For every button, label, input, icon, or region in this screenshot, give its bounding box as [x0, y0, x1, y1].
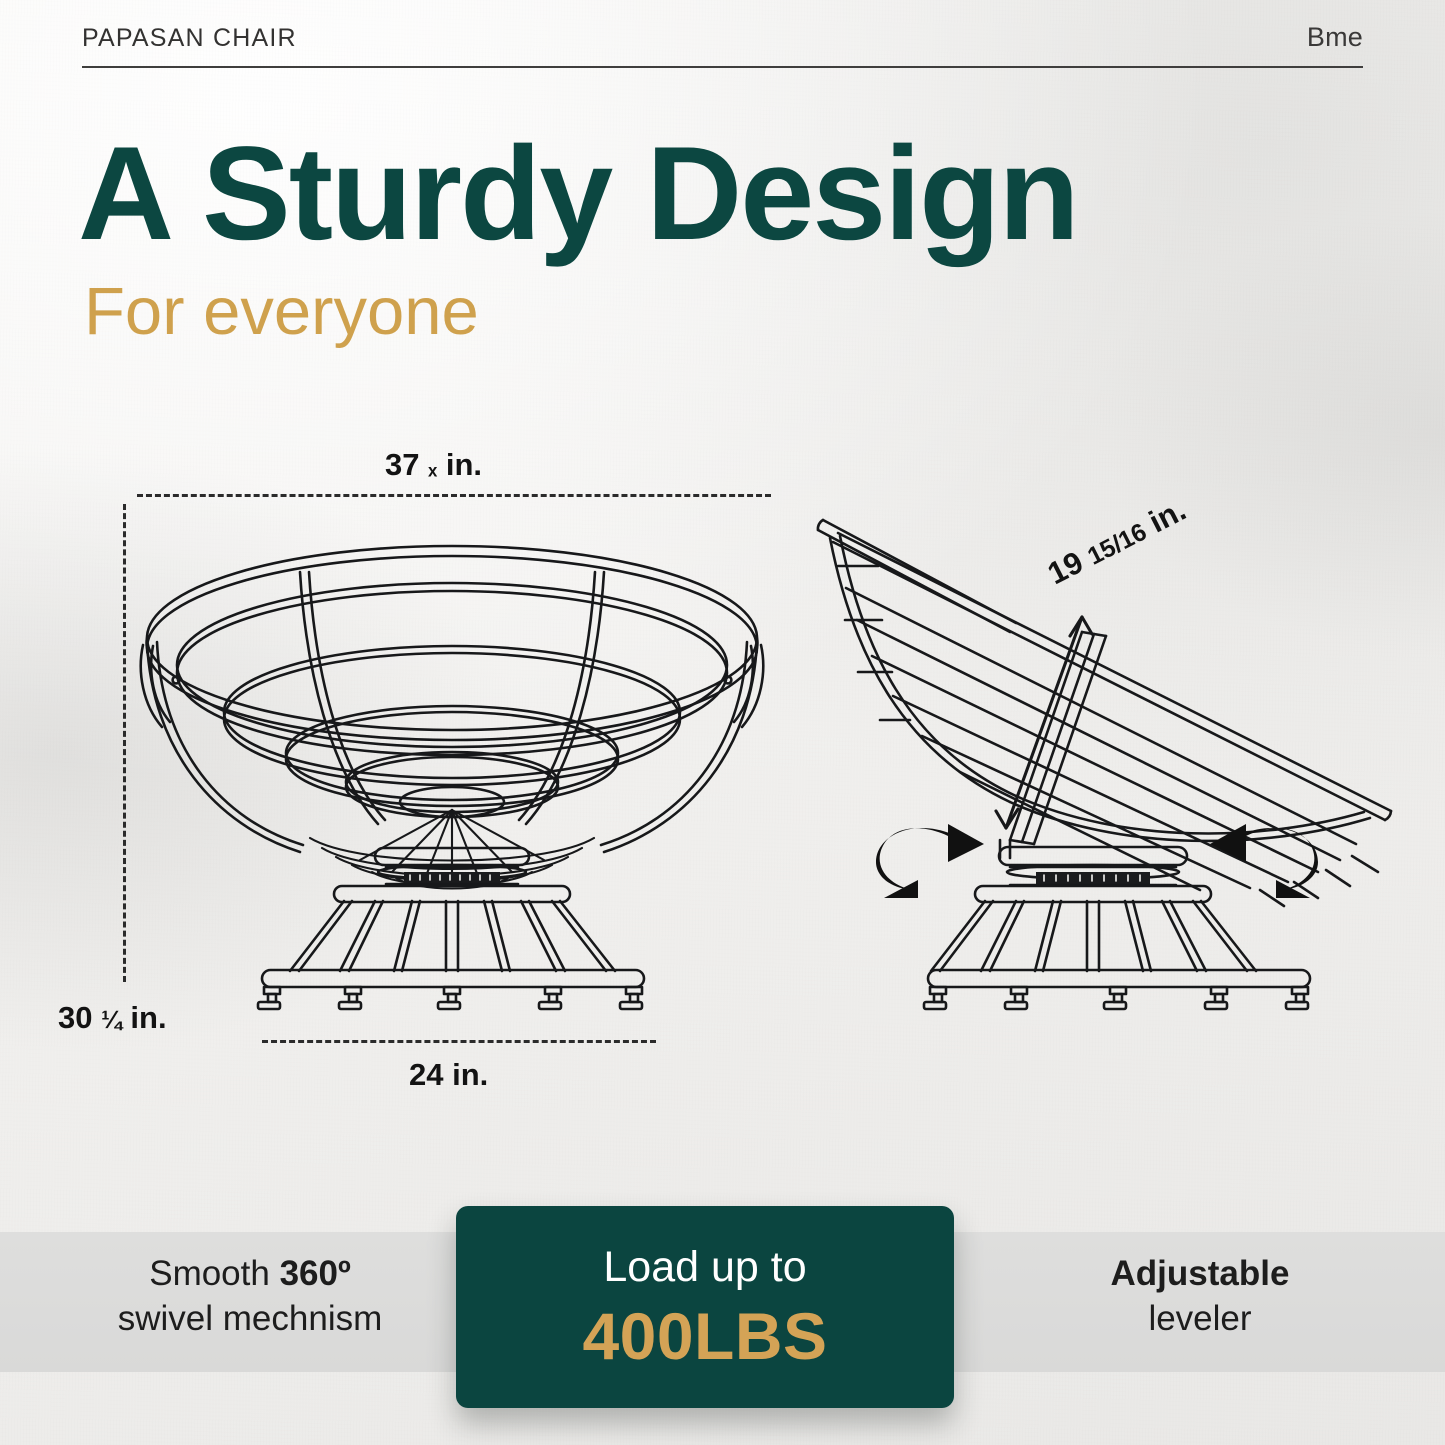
front-view-bowl [141, 546, 763, 1009]
leveler-foot [1205, 987, 1227, 1009]
feature-swivel-line1: Smooth 360º [40, 1252, 460, 1297]
page-subtitle: For everyone [84, 278, 479, 345]
feature-leveler-line1: Adjustable [995, 1252, 1405, 1297]
brand-logo: Bme [1307, 22, 1363, 53]
leveler-foot [1104, 987, 1126, 1009]
feature-leveler-value: Adjustable [1111, 1254, 1290, 1293]
leveler-foot [924, 987, 946, 1009]
load-capacity-card: Load up to 400LBS [456, 1206, 954, 1408]
feature-leveler-line2: leveler [995, 1297, 1405, 1342]
leveler-foot [1286, 987, 1308, 1009]
load-capacity-value: 400LBS [582, 1303, 827, 1369]
page-title: A Sturdy Design [78, 128, 1078, 261]
leveler-foot [1005, 987, 1027, 1009]
feature-swivel-line2: swivel mechnism [40, 1297, 460, 1342]
swivel-rotation-arrow-left [876, 824, 984, 898]
feature-swivel-value: 360º [280, 1254, 351, 1293]
side-view-bowl [818, 520, 1391, 1009]
leveler-foot [339, 987, 361, 1009]
feature-swivel-lead: Smooth [149, 1254, 279, 1293]
feature-leveler: Adjustable leveler [995, 1252, 1405, 1342]
leveler-foot [258, 987, 280, 1009]
feature-swivel: Smooth 360º swivel mechnism [40, 1252, 460, 1342]
leveler-foot [438, 987, 460, 1009]
page-header: PAPASAN CHAIR Bme [82, 22, 1363, 68]
leveler-foot [539, 987, 561, 1009]
header-divider [82, 66, 1363, 68]
product-kicker: PAPASAN CHAIR [82, 24, 297, 53]
leveler-foot [620, 987, 642, 1009]
chair-dimension-diagram [0, 420, 1445, 1120]
load-capacity-label: Load up to [603, 1246, 806, 1289]
